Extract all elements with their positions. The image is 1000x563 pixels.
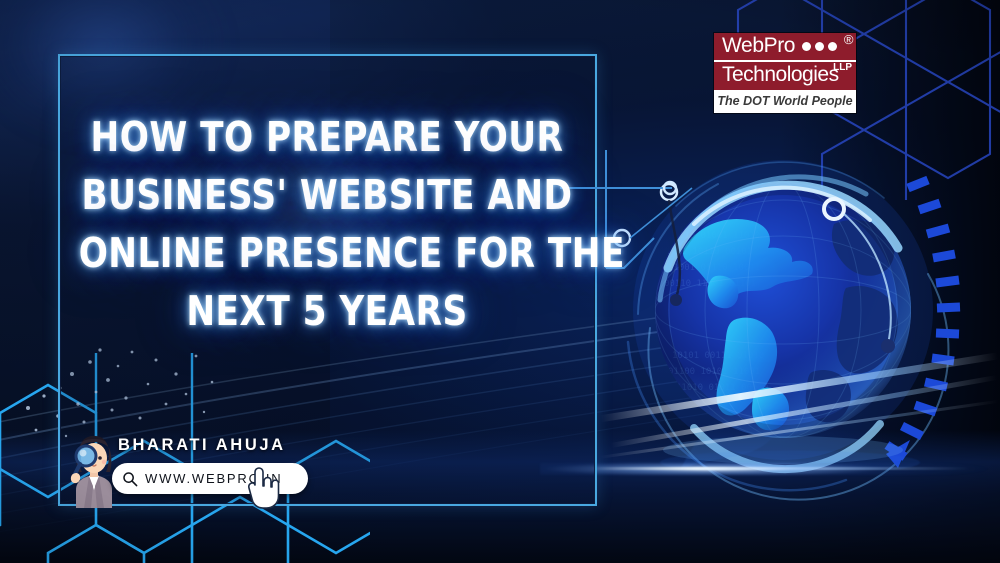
title-line-4: NEXT 5 YEARS <box>79 282 576 340</box>
pointing-hand-cursor-icon <box>245 466 285 510</box>
title-line-2: BUSINESS' WEBSITE AND <box>79 166 576 224</box>
webpro-logo[interactable]: WebPro ® Technologies LLP The DOT World … <box>714 33 856 113</box>
horizon-light-core <box>590 467 970 470</box>
logo-line-1: WebPro ® <box>714 33 856 60</box>
logo-brand-name: WebPro <box>722 34 795 58</box>
title-line-3: ONLINE PRESENCE FOR THE <box>79 224 576 282</box>
logo-dots-icon <box>802 42 837 51</box>
title-line-1: HOW TO PREPARE YOUR <box>79 108 576 166</box>
logo-line-2: Technologies LLP <box>714 62 856 90</box>
banner-canvas: 10110 01001 11010 01011 10110 00101 1100… <box>0 0 1000 563</box>
search-icon <box>122 471 138 487</box>
logo-sub-name: Technologies <box>722 63 839 86</box>
page-title: HOW TO PREPARE YOUR BUSINESS' WEBSITE AN… <box>79 108 576 340</box>
author-name: BHARATI AHUJA <box>118 436 286 455</box>
registered-trademark-icon: ® <box>844 33 853 46</box>
globe-reflection <box>640 399 940 470</box>
logo-tagline: The DOT World People <box>714 90 856 113</box>
logo-entity-type: LLP <box>833 63 852 73</box>
